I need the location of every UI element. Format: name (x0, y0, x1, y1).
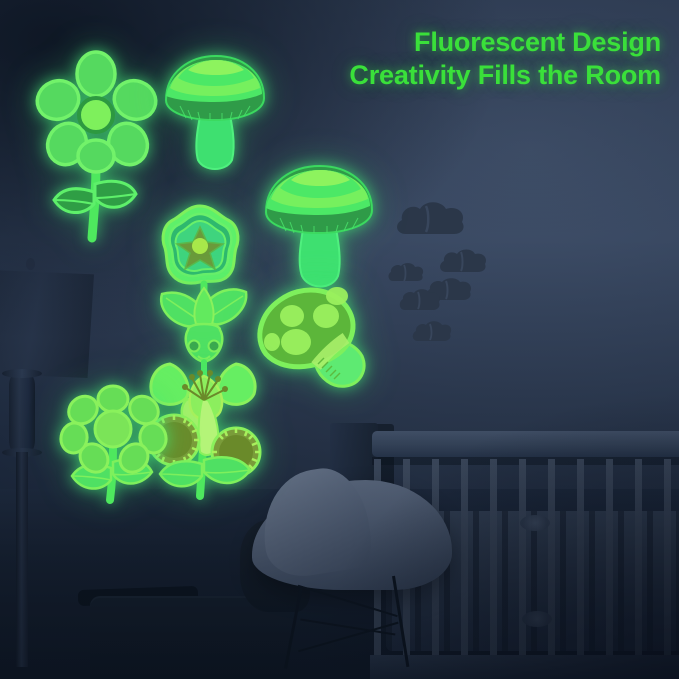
decal-flower-seven-petal-bottom-left (56, 386, 174, 502)
decal-mushroom-ribbed-large (256, 160, 382, 294)
crib-top-rail (372, 431, 679, 457)
cloud-decal (437, 248, 489, 274)
cloud-decal (392, 200, 468, 236)
lamp-finial (26, 258, 35, 270)
lamp-pole (16, 452, 28, 667)
lamp-shade (0, 270, 94, 378)
cloud-decal (397, 288, 443, 312)
lamp-neck (9, 372, 35, 454)
headline-line-2: Creativity Fills the Room (349, 59, 661, 92)
product-lifestyle-scene: Fluorescent Design Creativity Fills the … (0, 0, 679, 679)
decal-mushroom-ribbed-top (156, 50, 274, 176)
promo-headline: Fluorescent Design Creativity Fills the … (349, 26, 661, 92)
decal-mushroom-spotted (250, 280, 378, 398)
crib-bow-tie (520, 515, 550, 531)
cloud-decal (410, 320, 454, 343)
crib-base-rail (370, 655, 679, 679)
cloud-decal (386, 262, 426, 283)
headline-line-1: Fluorescent Design (414, 27, 661, 57)
crib-bow-tie (522, 611, 552, 627)
decal-flower-six-petal-top-left (38, 52, 158, 242)
